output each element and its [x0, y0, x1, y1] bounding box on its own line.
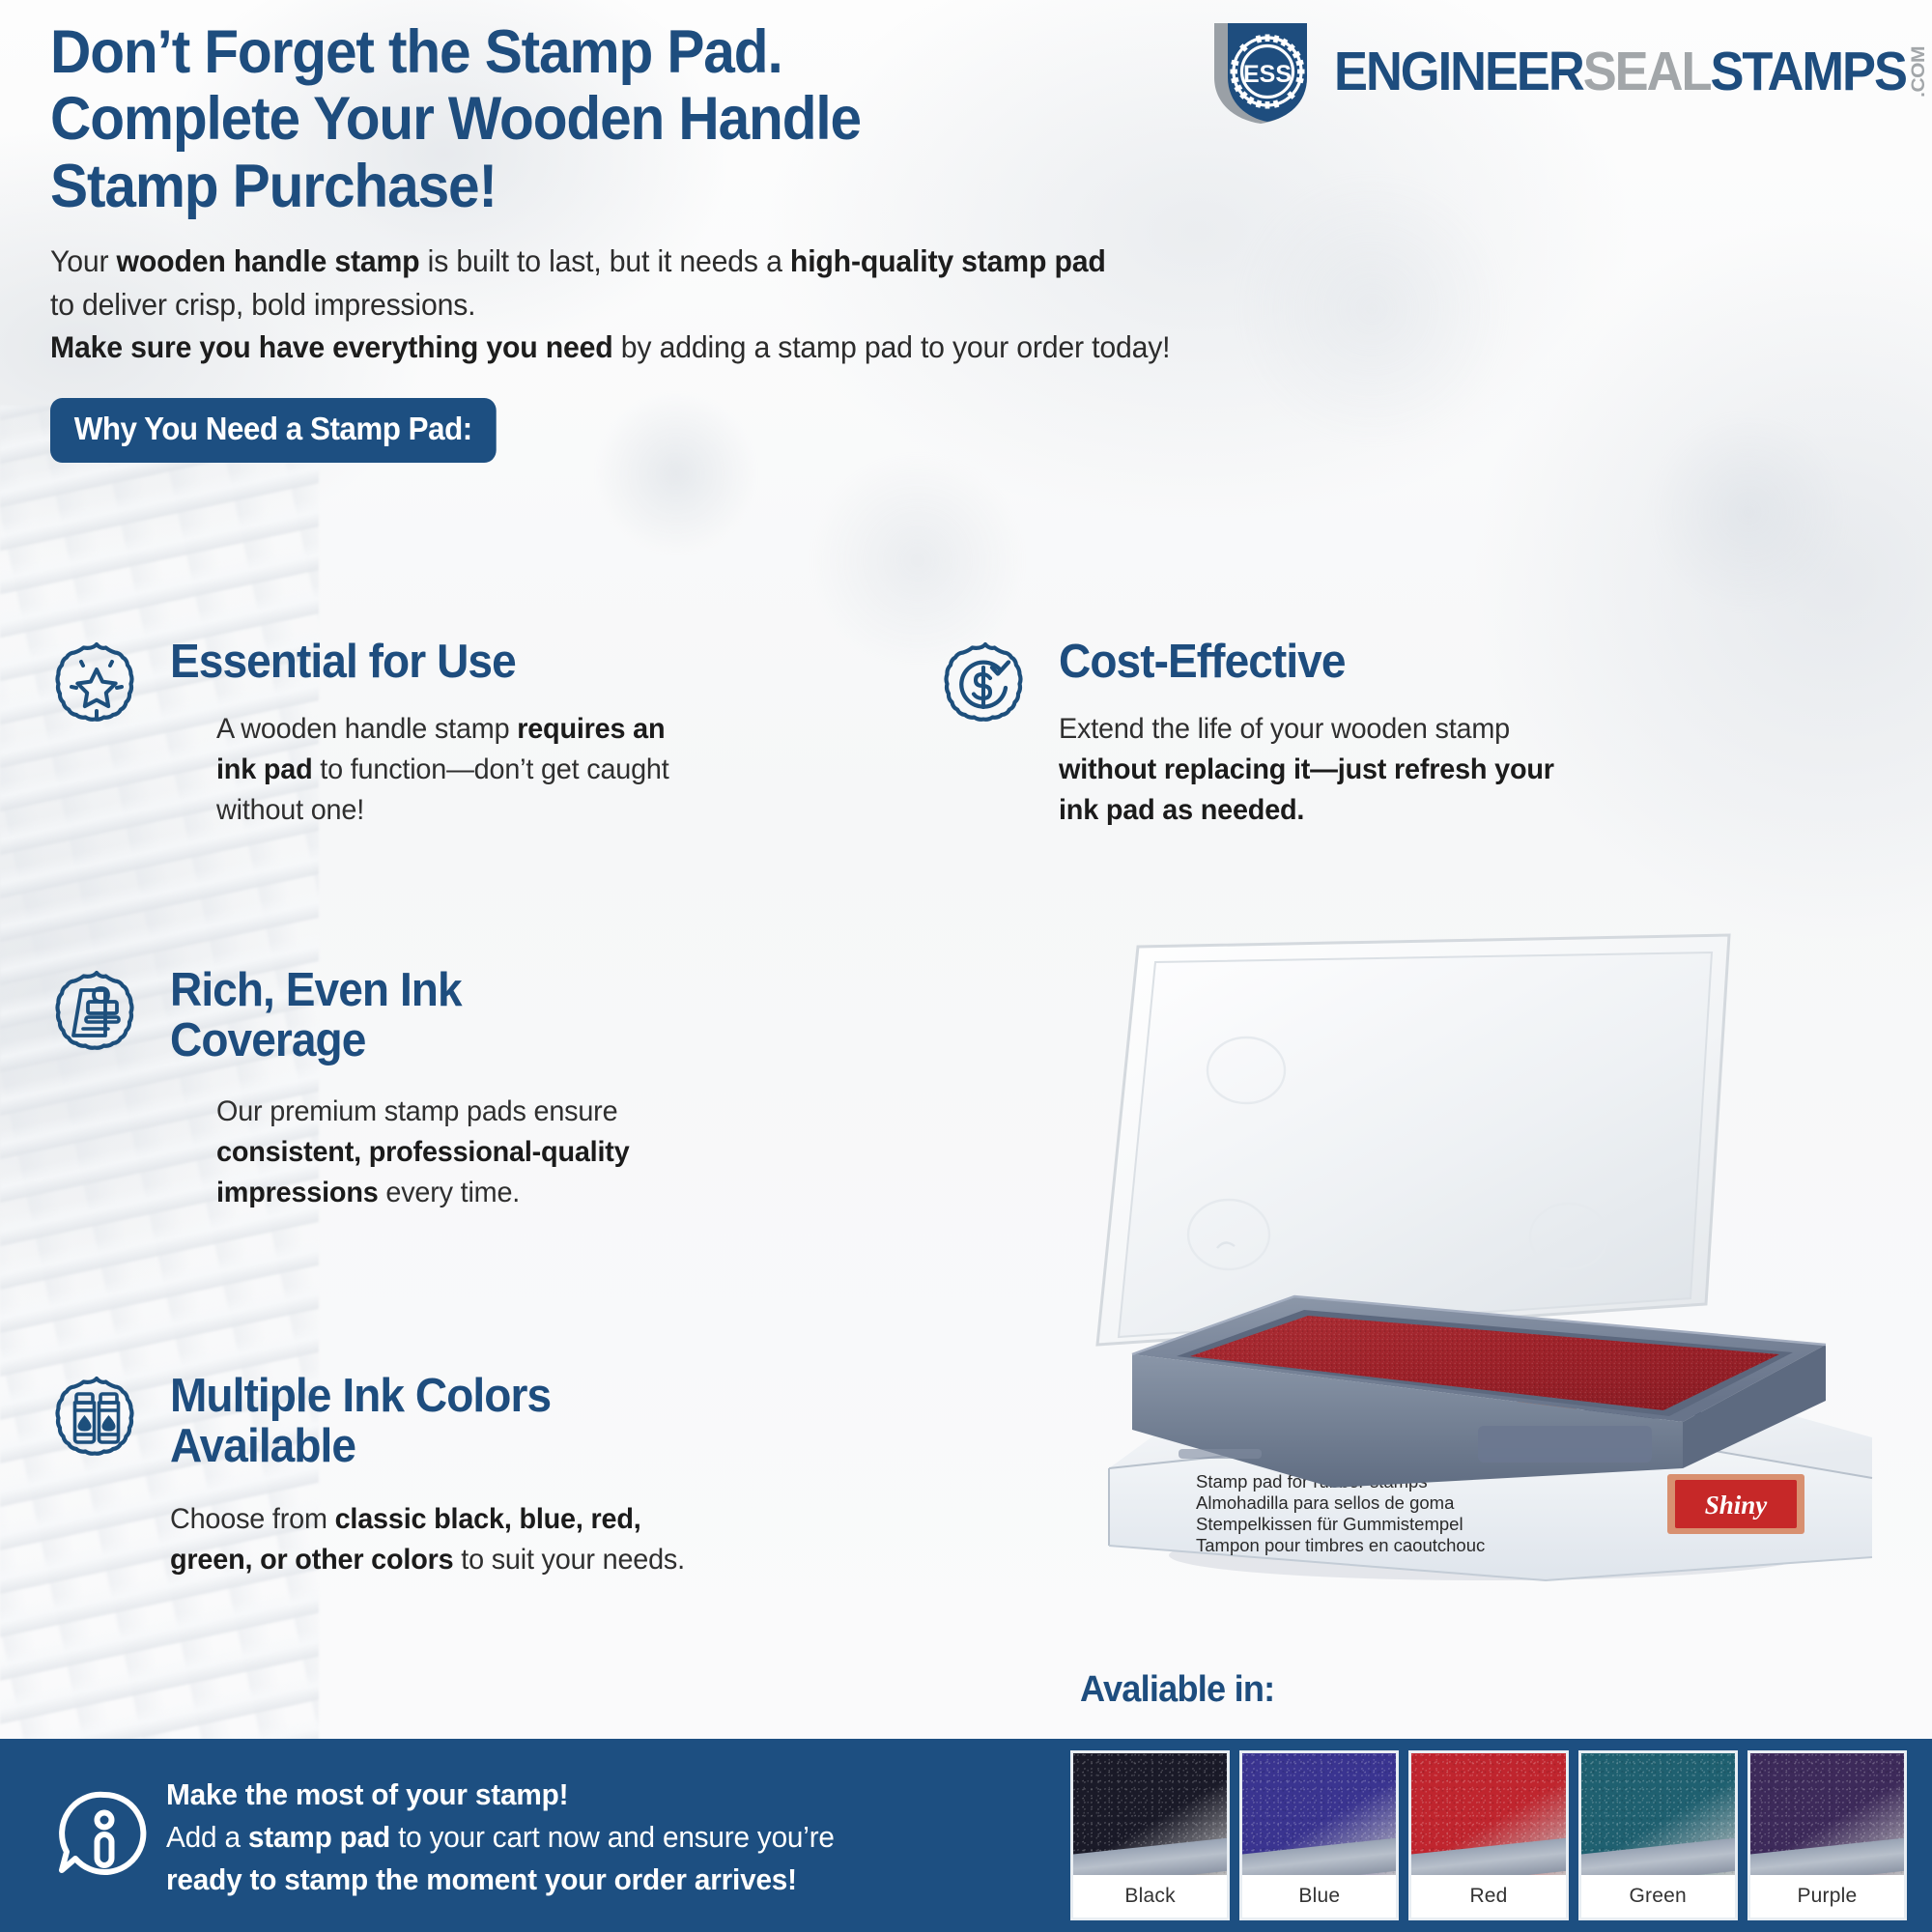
intro-line-2: to deliver crisp, bold impressions. [50, 283, 1349, 327]
headline-line-3: Stamp Purchase! [50, 154, 1110, 220]
feature-essential-for-use: Essential for Use A wooden handle stamp … [46, 638, 896, 831]
swatch-photo-blue [1242, 1753, 1396, 1875]
ess-monogram: ESS [1243, 61, 1292, 88]
available-in-heading: Avaliable in: [1080, 1669, 1274, 1711]
intro-paragraph: Your wooden handle stamp is built to las… [50, 240, 1349, 369]
headline-line-2: Complete Your Wooden Handle [50, 86, 1110, 153]
box-line-4: Tampon pour timbres en caoutchouc [1196, 1535, 1485, 1555]
info-bubble-icon [50, 1781, 158, 1889]
ess-shield-icon: ESS [1201, 17, 1324, 126]
swatch-blue[interactable]: Blue [1239, 1750, 1399, 1920]
section-badge-why-you-need: Why You Need a Stamp Pad: [50, 398, 496, 463]
logo-tld: .COM [1910, 46, 1928, 98]
swatch-photo-black [1073, 1753, 1227, 1875]
swatch-photo-red [1411, 1753, 1565, 1875]
infographic-page: Don’t Forget the Stamp Pad. Complete You… [0, 0, 1932, 1932]
feature-body-colors: Choose from classic black, blue, red, gr… [170, 1499, 977, 1580]
svg-text:Shiny: Shiny [1705, 1491, 1769, 1520]
stamp-pad-lid [1097, 935, 1729, 1345]
box-line-3: Stempelkissen für Gummistempel [1196, 1514, 1463, 1534]
box-line-2: Almohadilla para sellos de goma [1196, 1492, 1455, 1513]
feature-title-rich: Rich, Even Ink Coverage [170, 966, 733, 1066]
swatch-purple[interactable]: Purple [1747, 1750, 1907, 1920]
logo-wordmark: ENGINEERSEALSTAMPS.COM [1334, 44, 1928, 99]
star-badge-icon [46, 638, 147, 738]
logo-word-stamps: STAMPS [1710, 44, 1905, 99]
dollar-check-badge-icon [935, 638, 1036, 738]
feature-title-cost: Cost-Effective [1059, 638, 1839, 688]
shiny-brand-label: Shiny [1667, 1474, 1804, 1534]
logo-word-engineer: ENGINEER [1334, 44, 1583, 99]
footer-line-3: ready to stamp the moment your order arr… [166, 1859, 1037, 1901]
feature-multiple-ink-colors: Multiple Ink Colors Available Choose fro… [46, 1372, 1012, 1580]
footer-line-2: Add a stamp pad to your cart now and ens… [166, 1816, 1037, 1859]
product-photo-stamp-pad: Stamp pad for rubber stamps Almohadilla … [1063, 927, 1874, 1584]
swatch-red[interactable]: Red [1408, 1750, 1568, 1920]
ink-color-swatch-row: Black Blue Red Green Purple [1070, 1750, 1907, 1920]
feature-rich-even-ink-coverage: Rich, Even Ink Coverage Our premium stam… [46, 966, 896, 1213]
feature-body-essential: A wooden handle stamp requires an ink pa… [216, 709, 902, 831]
intro-line-1: Your wooden handle stamp is built to las… [50, 240, 1349, 283]
feature-cost-effective: Cost-Effective Extend the life of your w… [935, 638, 1911, 831]
ink-bottles-badge-icon [46, 1372, 147, 1472]
swatch-label-purple: Purple [1750, 1875, 1904, 1918]
feature-body-cost: Extend the life of your wooden stamp wit… [1059, 709, 1865, 831]
swatch-label-green: Green [1581, 1875, 1735, 1918]
feature-title-colors: Multiple Ink Colors Available [170, 1372, 842, 1472]
feature-body-rich: Our premium stamp pads ensure consistent… [216, 1092, 866, 1213]
swatch-label-red: Red [1411, 1875, 1565, 1918]
swatch-label-black: Black [1073, 1875, 1227, 1918]
swatch-photo-green [1581, 1753, 1735, 1875]
intro-line-3: Make sure you have everything you need b… [50, 326, 1349, 369]
footer-cta-text: Make the most of your stamp! Add a stamp… [166, 1774, 1037, 1901]
page-headline: Don’t Forget the Stamp Pad. Complete You… [50, 19, 1110, 220]
brand-logo[interactable]: ESS ENGINEERSEALSTAMPS.COM [1201, 17, 1920, 126]
logo-word-seal: SEAL [1583, 44, 1711, 99]
swatch-black[interactable]: Black [1070, 1750, 1230, 1920]
feature-title-essential: Essential for Use [170, 638, 842, 688]
swatch-photo-purple [1750, 1753, 1904, 1875]
headline-line-1: Don’t Forget the Stamp Pad. [50, 19, 1110, 86]
swatch-label-blue: Blue [1242, 1875, 1396, 1918]
footer-line-1: Make the most of your stamp! [166, 1774, 1037, 1816]
rubber-stamp-badge-icon [46, 966, 147, 1066]
swatch-green[interactable]: Green [1578, 1750, 1738, 1920]
